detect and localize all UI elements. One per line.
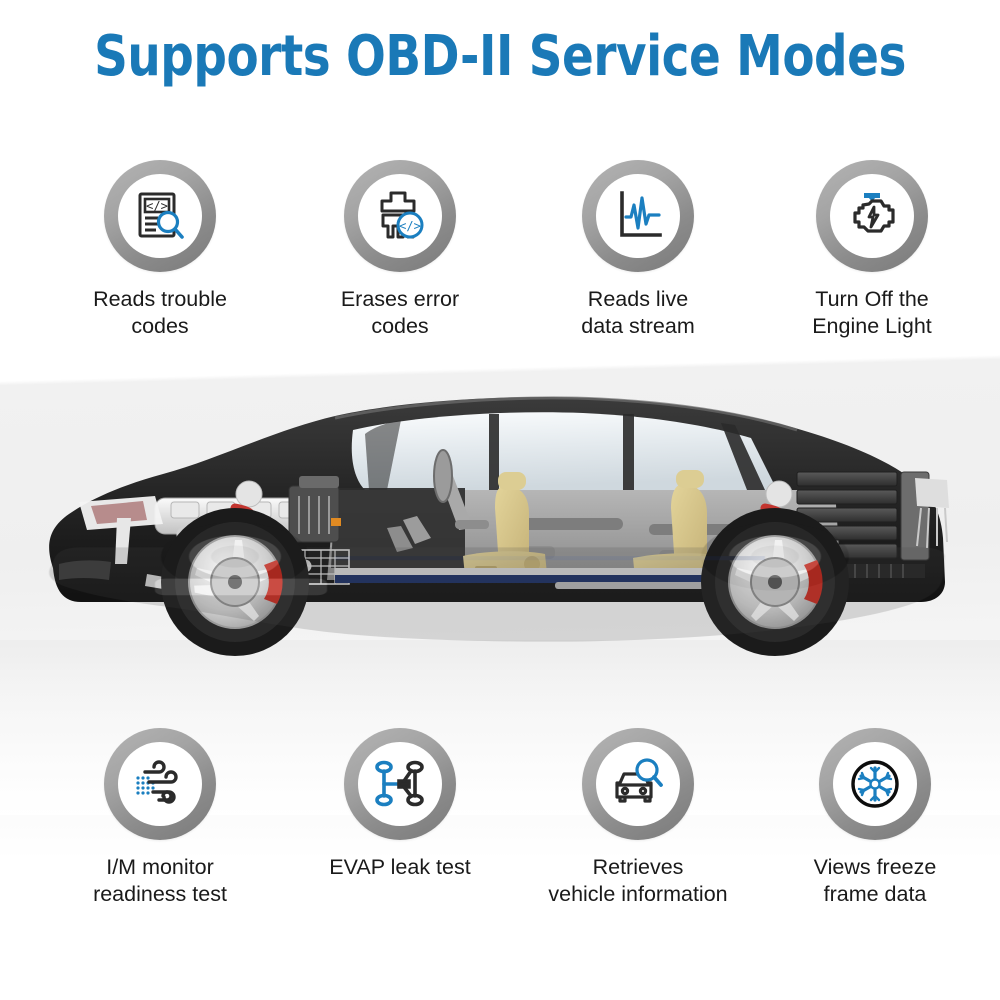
feature-erases-error-codes[interactable]: </> Erases error codes <box>285 160 515 340</box>
feature-label: EVAP leak test <box>285 854 515 881</box>
feature-views-freeze-frame-data[interactable]: Views freeze frame data <box>760 728 990 908</box>
badge-inner <box>830 174 914 258</box>
feature-label-line1: Erases error <box>285 286 515 313</box>
feature-label-line2: codes <box>285 313 515 340</box>
badge-inner <box>833 742 917 826</box>
badge-inner <box>596 742 680 826</box>
feature-im-monitor-readiness-test[interactable]: I/M monitor readiness test <box>45 728 275 908</box>
badge-inner <box>596 174 680 258</box>
feature-label: Views freeze frame data <box>760 854 990 908</box>
badge-inner <box>118 742 202 826</box>
eraser-code-icon: </> <box>372 188 428 244</box>
svg-text:</>: </> <box>146 199 168 213</box>
feature-label-line1: I/M monitor <box>45 854 275 881</box>
check-engine-light-icon <box>843 187 901 245</box>
snowflake-icon <box>846 755 904 813</box>
feature-reads-trouble-codes[interactable]: </> Reads trouble codes <box>45 160 275 340</box>
feature-label-line2: Engine Light <box>757 313 987 340</box>
badge-inner: </> <box>358 174 442 258</box>
feature-label: Turn Off the Engine Light <box>757 286 987 340</box>
badge-ring <box>104 728 216 840</box>
feature-label-line1: Views freeze <box>760 854 990 881</box>
badge-ring: </> <box>344 160 456 272</box>
badge-ring <box>816 160 928 272</box>
feature-label-line1: Turn Off the <box>757 286 987 313</box>
page-title: Supports OBD-II Service Modes <box>35 24 965 89</box>
feature-label-line1: Reads trouble <box>45 286 275 313</box>
feature-label: I/M monitor readiness test <box>45 854 275 908</box>
feature-turn-off-engine-light[interactable]: Turn Off the Engine Light <box>757 160 987 340</box>
emissions-wind-icon <box>131 755 189 813</box>
badge-ring <box>582 160 694 272</box>
infographic-page: Supports OBD-II Service Modes <box>0 0 1000 1000</box>
badge-ring <box>344 728 456 840</box>
chassis-axle-icon <box>371 755 429 813</box>
feature-label-line1: Retrieves <box>523 854 753 881</box>
feature-label-line2: data stream <box>523 313 753 340</box>
badge-ring: </> <box>104 160 216 272</box>
svg-text:</>: </> <box>399 219 421 233</box>
feature-label: Erases error codes <box>285 286 515 340</box>
waveform-chart-icon <box>610 188 666 244</box>
feature-label-line2: codes <box>45 313 275 340</box>
feature-label: Reads trouble codes <box>45 286 275 340</box>
feature-label: Retrieves vehicle information <box>523 854 753 908</box>
document-code-magnifier-icon: </> <box>132 188 188 244</box>
feature-evap-leak-test[interactable]: EVAP leak test <box>285 728 515 881</box>
feature-label: Reads live data stream <box>523 286 753 340</box>
feature-label-line2: readiness test <box>45 881 275 908</box>
badge-inner <box>358 742 442 826</box>
feature-label-line1: Reads live <box>523 286 753 313</box>
feature-label-line2: frame data <box>760 881 990 908</box>
feature-retrieves-vehicle-information[interactable]: Retrieves vehicle information <box>523 728 753 908</box>
feature-label-line2: vehicle information <box>523 881 753 908</box>
feature-reads-live-data-stream[interactable]: Reads live data stream <box>523 160 753 340</box>
feature-label-line1: EVAP leak test <box>285 854 515 881</box>
badge-ring <box>582 728 694 840</box>
car-cutaway-illustration <box>35 368 965 668</box>
car-magnifier-icon <box>609 755 667 813</box>
badge-ring <box>819 728 931 840</box>
badge-inner: </> <box>118 174 202 258</box>
